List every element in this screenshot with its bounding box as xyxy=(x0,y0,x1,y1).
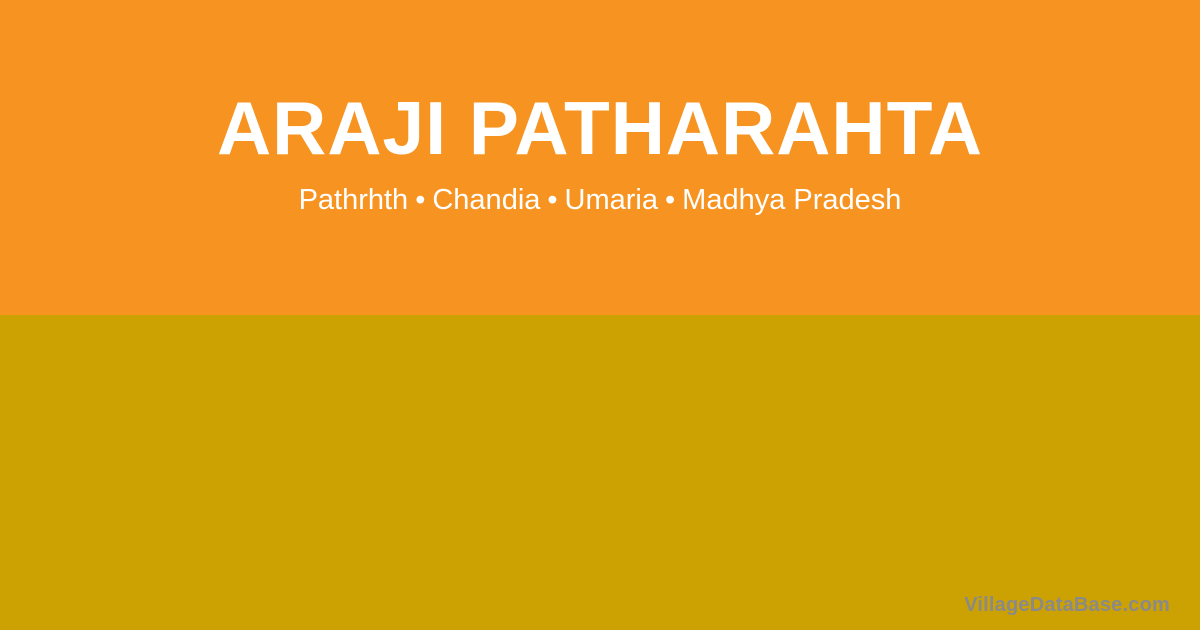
breadcrumb-separator: • xyxy=(540,184,564,216)
breadcrumb-item-district: Umaria xyxy=(565,184,658,216)
breadcrumb-item-panchayat: Pathrhth xyxy=(299,184,409,216)
header-band: ARAJI PATHARAHTA Pathrhth•Chandia•Umaria… xyxy=(0,0,1200,315)
body-band: Town: Chandia (14 km) VillageDataBase.co… xyxy=(0,315,1200,630)
village-info-card: ARAJI PATHARAHTA Pathrhth•Chandia•Umaria… xyxy=(0,0,1200,630)
breadcrumb-separator: • xyxy=(408,184,432,216)
breadcrumb-separator: • xyxy=(658,184,682,216)
breadcrumb: Pathrhth•Chandia•Umaria•Madhya Pradesh xyxy=(0,182,1200,218)
breadcrumb-item-state: Madhya Pradesh xyxy=(682,184,901,216)
breadcrumb-item-block: Chandia xyxy=(432,184,540,216)
site-watermark: VillageDataBase.com xyxy=(964,593,1170,617)
page-title: ARAJI PATHARAHTA xyxy=(0,85,1200,171)
